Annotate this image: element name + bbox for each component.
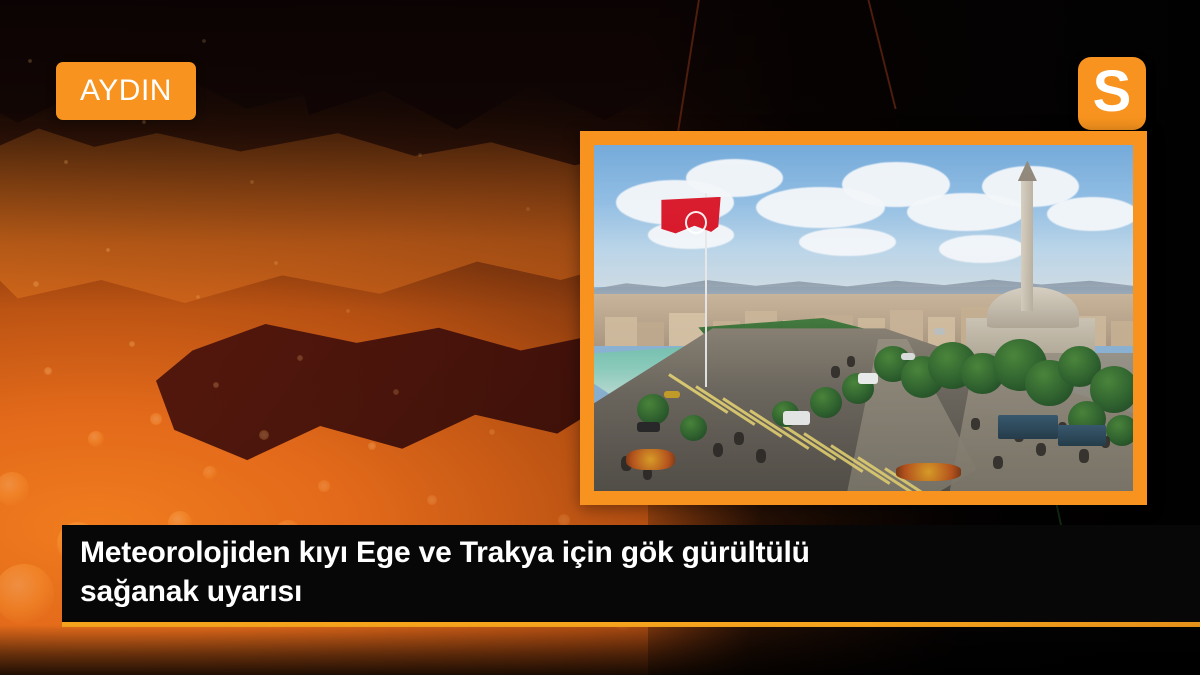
bokeh-dot: [106, 248, 110, 252]
photo-cloud: [799, 228, 896, 256]
photo-vehicle: [858, 373, 877, 383]
bokeh-dot: [418, 153, 422, 157]
bokeh-dot: [129, 341, 135, 347]
bokeh-dot: [142, 120, 146, 124]
bokeh-dot: [213, 382, 219, 388]
photo-building: [1111, 321, 1133, 346]
photo-tree: [1106, 415, 1133, 446]
photo-kiosk: [1058, 425, 1107, 446]
headline-line-1: Meteorolojiden kıyı Ege ve Trakya için g…: [80, 534, 1182, 573]
bokeh-dot: [33, 281, 39, 287]
bokeh-dot: [250, 180, 254, 184]
bokeh-dot: [526, 207, 530, 211]
photo-cloud: [939, 235, 1025, 263]
photo-flowerbed: [626, 449, 675, 470]
photo-person: [734, 432, 744, 445]
photo-person: [1079, 449, 1089, 462]
photo-vehicle: [901, 353, 915, 360]
photo-person: [847, 356, 855, 367]
photo-frame[interactable]: [580, 131, 1147, 505]
bokeh-dot: [44, 367, 52, 375]
headline-line-2: sağanak uyarısı: [80, 573, 1182, 612]
bokeh-dot: [274, 261, 278, 265]
bokeh-dot: [259, 430, 269, 440]
headline-underline: [62, 622, 1200, 627]
photo-building: [605, 317, 637, 346]
photo-person: [756, 449, 766, 463]
city-square-photo: [594, 145, 1133, 491]
photo-vehicle: [664, 391, 680, 399]
bokeh-dot: [0, 472, 29, 506]
photo-minaret: [1021, 173, 1033, 311]
photo-person: [971, 418, 980, 430]
bokeh-dot: [297, 355, 303, 361]
news-card: AYDIN S: [0, 0, 1200, 675]
photo-person: [831, 366, 840, 378]
photo-person: [713, 443, 724, 458]
bokeh-dot: [203, 466, 217, 480]
bokeh-dot: [346, 309, 350, 313]
photo-flag-emblem: [685, 211, 707, 234]
bokeh-dot: [64, 160, 68, 164]
bokeh-dot: [0, 564, 54, 624]
photo-tree: [810, 387, 842, 418]
bokeh-dot: [427, 495, 437, 505]
bokeh-dot: [196, 295, 200, 299]
bokeh-dot: [489, 429, 495, 435]
photo-kiosk: [998, 415, 1057, 439]
brand-logo-letter: S: [1093, 63, 1132, 121]
photo-person: [993, 456, 1003, 469]
photo-cloud: [686, 159, 783, 197]
photo-tree: [680, 415, 707, 441]
brand-s-logo[interactable]: S: [1078, 57, 1146, 130]
city-badge-label: AYDIN: [58, 74, 194, 108]
city-badge[interactable]: AYDIN: [56, 62, 196, 120]
bokeh-dot: [88, 431, 104, 447]
headline-panel: Meteorolojiden kıyı Ege ve Trakya için g…: [62, 525, 1200, 623]
bokeh-dot: [202, 39, 206, 43]
photo-vehicle: [934, 328, 946, 334]
bokeh-dot: [368, 442, 376, 450]
photo-vehicle: [637, 422, 660, 432]
bokeh-dot: [150, 413, 162, 425]
photo-building: [637, 322, 664, 346]
bokeh-dot: [393, 389, 399, 395]
bokeh-dot: [318, 480, 330, 492]
photo-flowerbed: [896, 463, 961, 480]
photo-person: [1036, 443, 1046, 457]
bokeh-dot: [558, 514, 570, 526]
photo-vehicle: [783, 411, 810, 425]
bokeh-dot: [28, 59, 32, 63]
